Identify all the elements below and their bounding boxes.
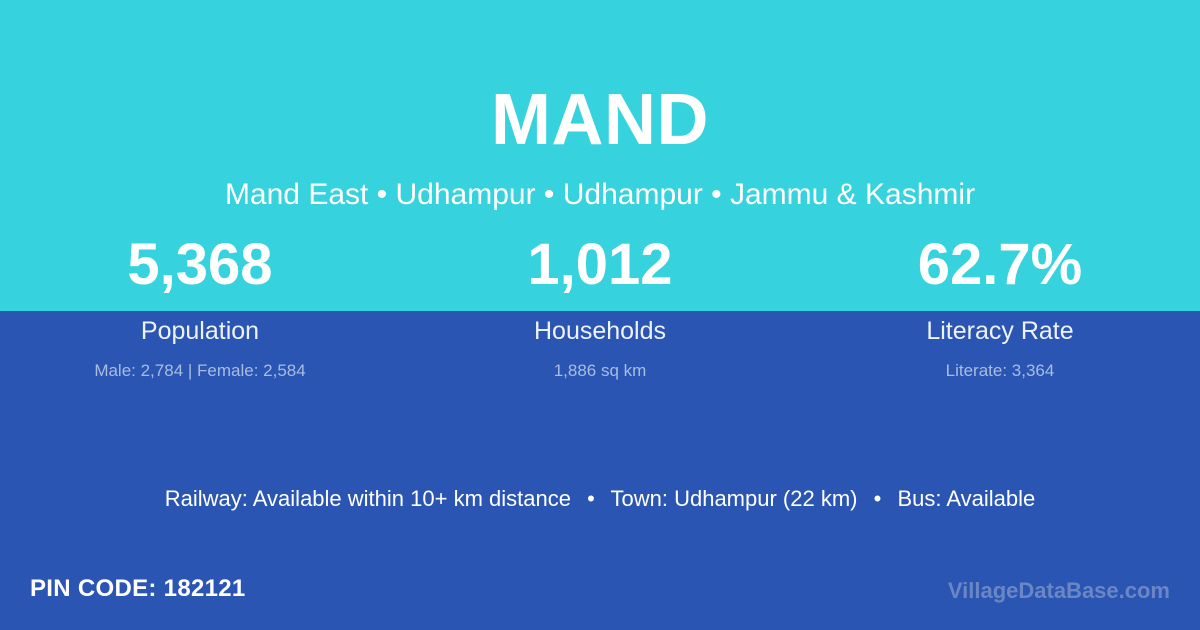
amenity-bus: Bus: Available [897,486,1035,511]
stat-subtext: 1,886 sq km [400,344,800,379]
stat-population: 5,368 Population Male: 2,784 | Female: 2… [0,236,400,379]
pin-code: PIN CODE: 182121 [30,575,246,603]
stat-label: Literacy Rate [800,308,1200,344]
bullet-separator-icon: • [864,486,892,512]
card-header: MAND Mand East • Udhampur • Udhampur • J… [0,0,1200,211]
bullet-separator-icon: • [577,486,605,512]
site-branding: VillageDataBase.com [948,578,1170,604]
amenity-town: Town: Udhampur (22 km) [611,486,858,511]
village-info-card: MAND Mand East • Udhampur • Udhampur • J… [0,0,1200,630]
stat-literacy-rate: 62.7% Literacy Rate Literate: 3,364 [800,236,1200,379]
stat-label: Households [400,308,800,344]
stat-value: 62.7% [800,236,1200,308]
amenity-railway: Railway: Available within 10+ km distanc… [165,486,571,511]
stats-row: 5,368 Population Male: 2,784 | Female: 2… [0,236,1200,379]
breadcrumb: Mand East • Udhampur • Udhampur • Jammu … [0,156,1200,211]
stat-value: 5,368 [0,236,400,308]
page-title: MAND [0,0,1200,156]
stat-label: Population [0,308,400,344]
stat-value: 1,012 [400,236,800,308]
stat-subtext: Literate: 3,364 [800,344,1200,379]
amenities-row: Railway: Available within 10+ km distanc… [0,486,1200,512]
stat-households: 1,012 Households 1,886 sq km [400,236,800,379]
stat-subtext: Male: 2,784 | Female: 2,584 [0,344,400,379]
